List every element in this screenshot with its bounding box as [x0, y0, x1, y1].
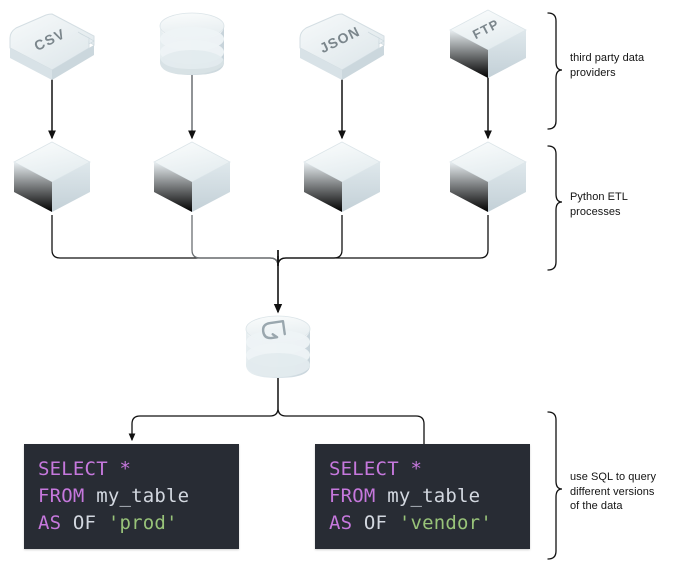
sql-block-prod[interactable]: SELECT * FROM my_table AS OF 'prod' — [24, 444, 239, 549]
sql-prod-line-1: SELECT * — [38, 456, 225, 483]
sql-prod-line-2: FROM my_table — [38, 483, 225, 510]
sql-block-vendor[interactable]: SELECT * FROM my_table AS OF 'vendor' — [315, 444, 530, 549]
content-layer: third party data providers Python ETL pr… — [0, 0, 692, 572]
sql-prod-line-3: AS OF 'prod' — [38, 510, 225, 537]
sql-vendor-line-1: SELECT * — [329, 456, 516, 483]
diagram-canvas: CSV JSON FTP — [0, 0, 692, 572]
annotation-etl: Python ETL processes — [570, 190, 688, 219]
annotation-queries: use SQL to query different versions of t… — [570, 470, 690, 514]
annotation-sources: third party data providers — [570, 51, 688, 80]
sql-vendor-line-3: AS OF 'vendor' — [329, 510, 516, 537]
sql-vendor-line-2: FROM my_table — [329, 483, 516, 510]
